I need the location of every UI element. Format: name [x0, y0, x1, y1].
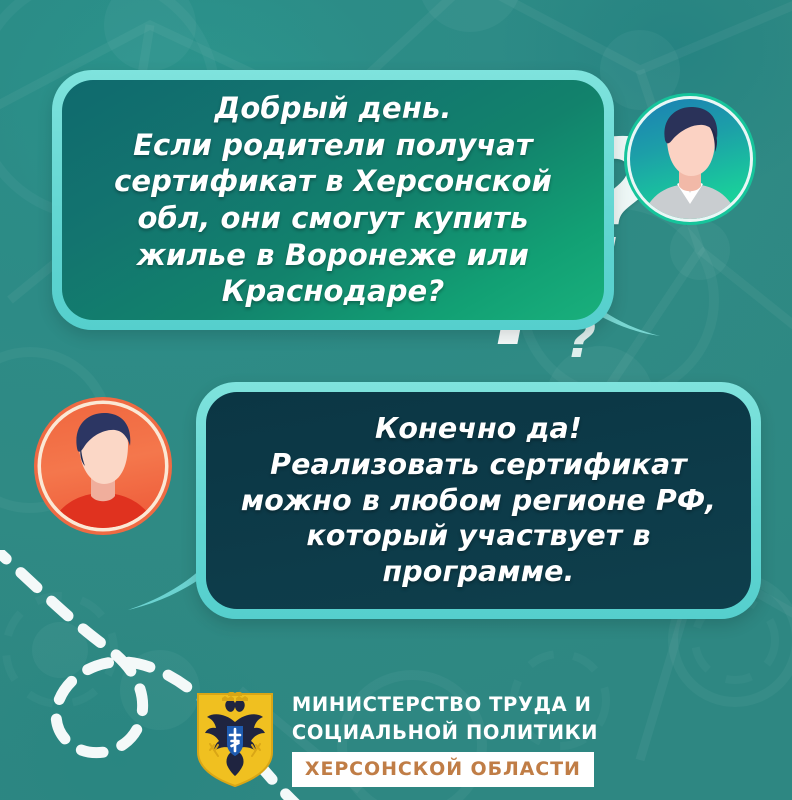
question-bubble-body: Добрый день. Если родители получат серти… — [62, 80, 604, 320]
answer-bubble: Конечно да! Реализовать сертификат можно… — [196, 382, 761, 619]
answer-bubble-body: Конечно да! Реализовать сертификат можно… — [206, 392, 751, 609]
avatar-citizen — [623, 92, 757, 226]
ministry-line-2: СОЦИАЛЬНОЙ ПОЛИТИКИ — [292, 721, 598, 744]
ministry-line-1: МИНИСТЕРСТВО ТРУДА И — [292, 693, 598, 716]
footer: МИНИСТЕРСТВО ТРУДА И СОЦИАЛЬНОЙ ПОЛИТИКИ… — [0, 692, 792, 788]
footer-text-block: МИНИСТЕРСТВО ТРУДА И СОЦИАЛЬНОЙ ПОЛИТИКИ… — [292, 693, 598, 787]
answer-text: Конечно да! Реализовать сертификат можно… — [241, 411, 716, 591]
region-label: ХЕРСОНСКОЙ ОБЛАСТИ — [305, 758, 581, 780]
question-bubble: Добрый день. Если родители получат серти… — [52, 70, 614, 330]
region-badge: ХЕРСОНСКОЙ ОБЛАСТИ — [292, 752, 594, 787]
avatar-official — [33, 396, 173, 536]
question-text: Добрый день. Если родители получат серти… — [114, 90, 552, 309]
infographic-card: ? ? ? Добрый день. Если родители получат… — [0, 0, 792, 800]
avatar-official-icon — [33, 396, 173, 536]
avatar-citizen-icon — [623, 92, 757, 226]
coat-of-arms-icon — [194, 692, 276, 788]
